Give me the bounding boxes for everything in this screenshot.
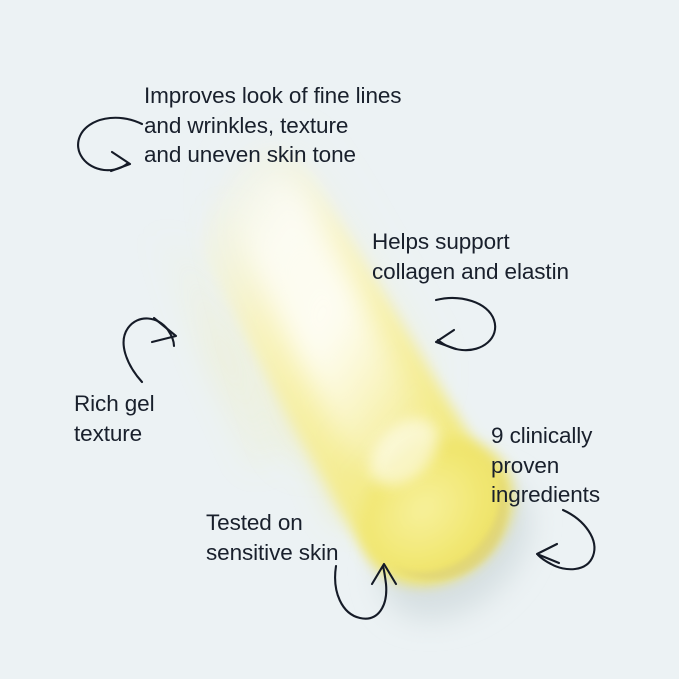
callout-sensitive-skin: Tested on sensitive skin <box>206 508 338 567</box>
curved-arrow-left-icon <box>533 506 617 580</box>
infographic-canvas: Improves look of fine lines and wrinkles… <box>0 0 679 679</box>
gel-left-glow <box>148 200 400 528</box>
callout-ingredients: 9 clinically proven ingredients <box>491 421 600 510</box>
callout-collagen: Helps support collagen and elastin <box>372 227 569 286</box>
curved-arrow-up-right-icon <box>116 308 188 386</box>
callout-rich-gel: Rich gel texture <box>74 389 155 448</box>
gel-highlight <box>232 173 420 465</box>
curved-arrow-down-left-icon <box>424 292 508 364</box>
gel-tip-sheen <box>357 406 451 499</box>
callout-fine-lines: Improves look of fine lines and wrinkles… <box>144 81 401 170</box>
gel-tip-rim <box>392 470 507 580</box>
curved-arrow-down-right-icon <box>70 108 154 184</box>
curved-arrow-up-icon <box>328 552 406 628</box>
